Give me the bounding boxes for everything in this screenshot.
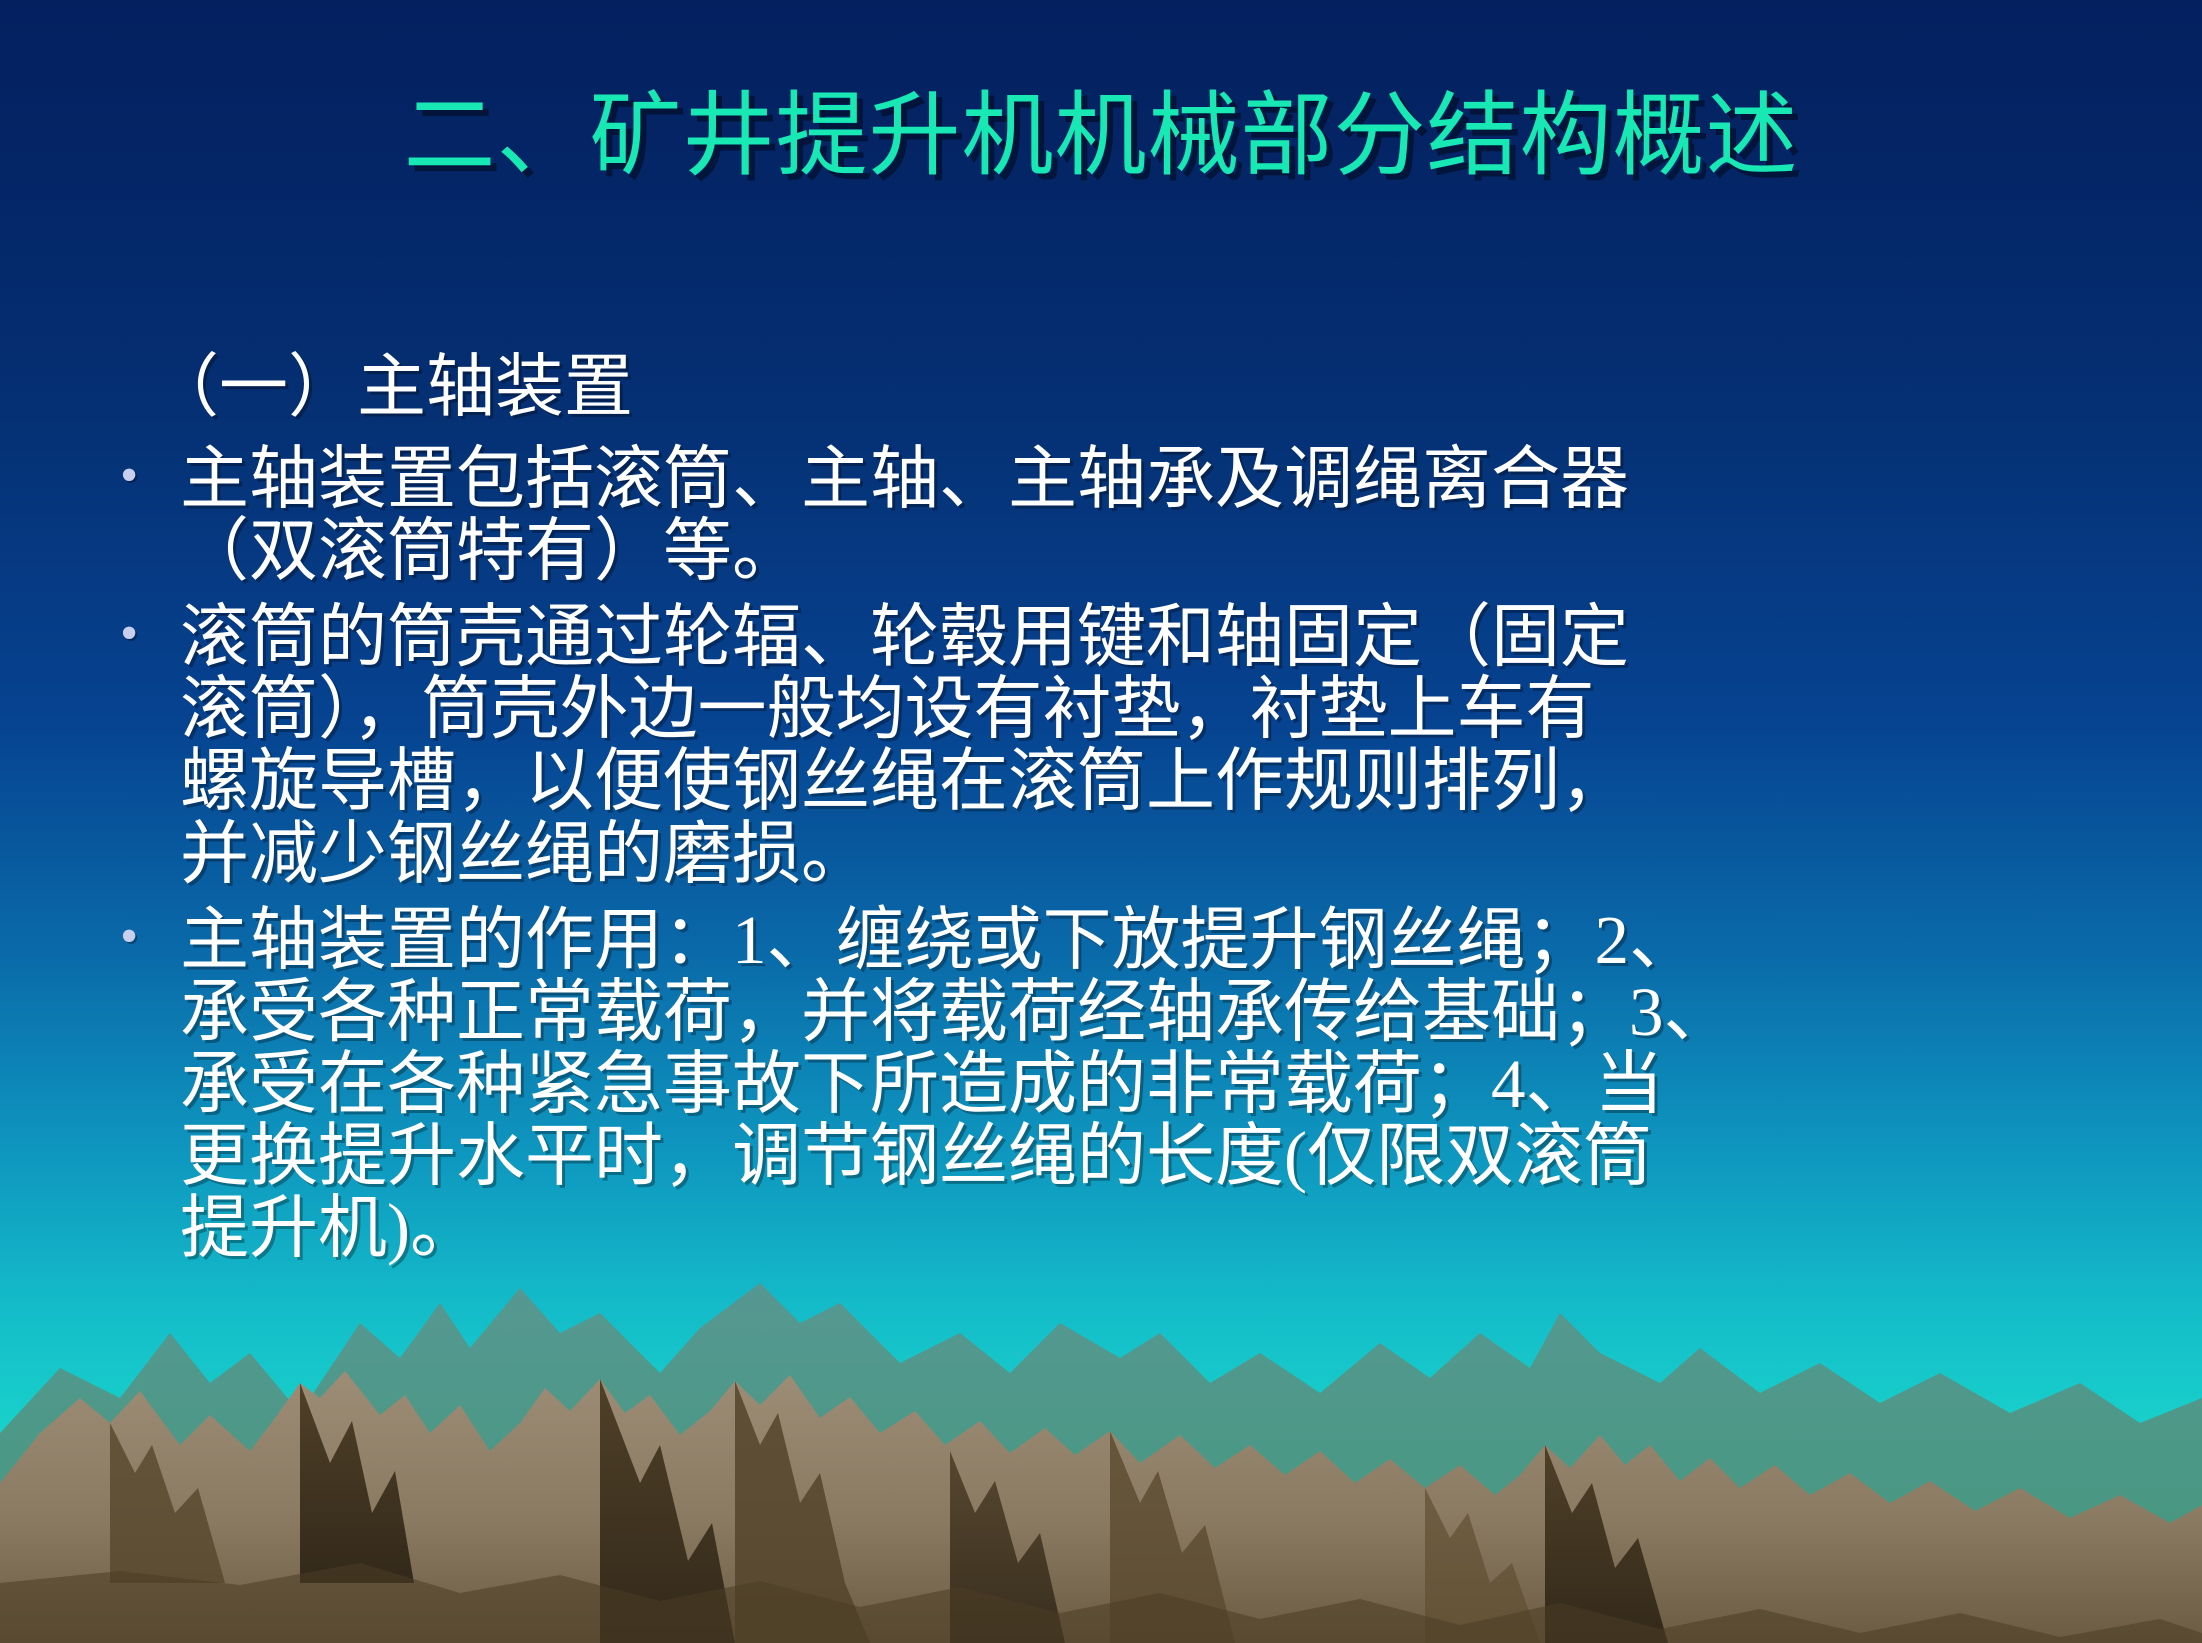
section-heading: （一）主轴装置 (108, 352, 2118, 423)
list-item-line: 滚筒的筒壳通过轮辐、轮毂用键和轴固定（固定 (180, 601, 2118, 673)
list-item-text: 主轴装置包括滚筒、主轴、主轴承及调绳离合器 （双滚筒特有）等。 (180, 443, 2118, 587)
list-item-line: 螺旋导槽，以便使钢丝绳在滚筒上作规则排列， (180, 745, 2118, 817)
list-item-line: 提升机)。 (180, 1192, 2118, 1264)
bullet-icon: • (108, 443, 180, 510)
list-item-line: 主轴装置的作用：1、缠绕或下放提升钢丝绳；2、 (180, 904, 2118, 976)
list-item-line: 主轴装置包括滚筒、主轴、主轴承及调绳离合器 (180, 443, 2118, 515)
list-item-line: 承受各种正常载荷，并将载荷经轴承传给基础；3、 (180, 976, 2118, 1048)
list-item: • 主轴装置的作用：1、缠绕或下放提升钢丝绳；2、 承受各种正常载荷，并将载荷经… (108, 904, 2118, 1264)
list-item-line: （双滚筒特有）等。 (180, 515, 2118, 587)
page-title: 二、矿井提升机机械部分结构概述 (0, 88, 2202, 185)
list-item-line: 并减少钢丝绳的磨损。 (180, 818, 2118, 890)
list-item: • 滚筒的筒壳通过轮辐、轮毂用键和轴固定（固定 滚筒），筒壳外边一般均设有衬垫，… (108, 601, 2118, 889)
list-item-line: 承受在各种紧急事故下所造成的非常载荷；4、当 (180, 1048, 2118, 1120)
list-item: • 主轴装置包括滚筒、主轴、主轴承及调绳离合器 （双滚筒特有）等。 (108, 443, 2118, 587)
list-item-line: 更换提升水平时，调节钢丝绳的长度(仅限双滚筒 (180, 1120, 2118, 1192)
slide-body: （一）主轴装置 • 主轴装置包括滚筒、主轴、主轴承及调绳离合器 （双滚筒特有）等… (108, 352, 2118, 1278)
bullet-icon: • (108, 601, 180, 668)
presentation-slide: 二、矿井提升机机械部分结构概述 （一）主轴装置 • 主轴装置包括滚筒、主轴、主轴… (0, 0, 2202, 1643)
list-item-text: 滚筒的筒壳通过轮辐、轮毂用键和轴固定（固定 滚筒），筒壳外边一般均设有衬垫，衬垫… (180, 601, 2118, 889)
list-item-text: 主轴装置的作用：1、缠绕或下放提升钢丝绳；2、 承受各种正常载荷，并将载荷经轴承… (180, 904, 2118, 1264)
bullet-icon: • (108, 904, 180, 971)
list-item-line: 滚筒），筒壳外边一般均设有衬垫，衬垫上车有 (180, 673, 2118, 745)
